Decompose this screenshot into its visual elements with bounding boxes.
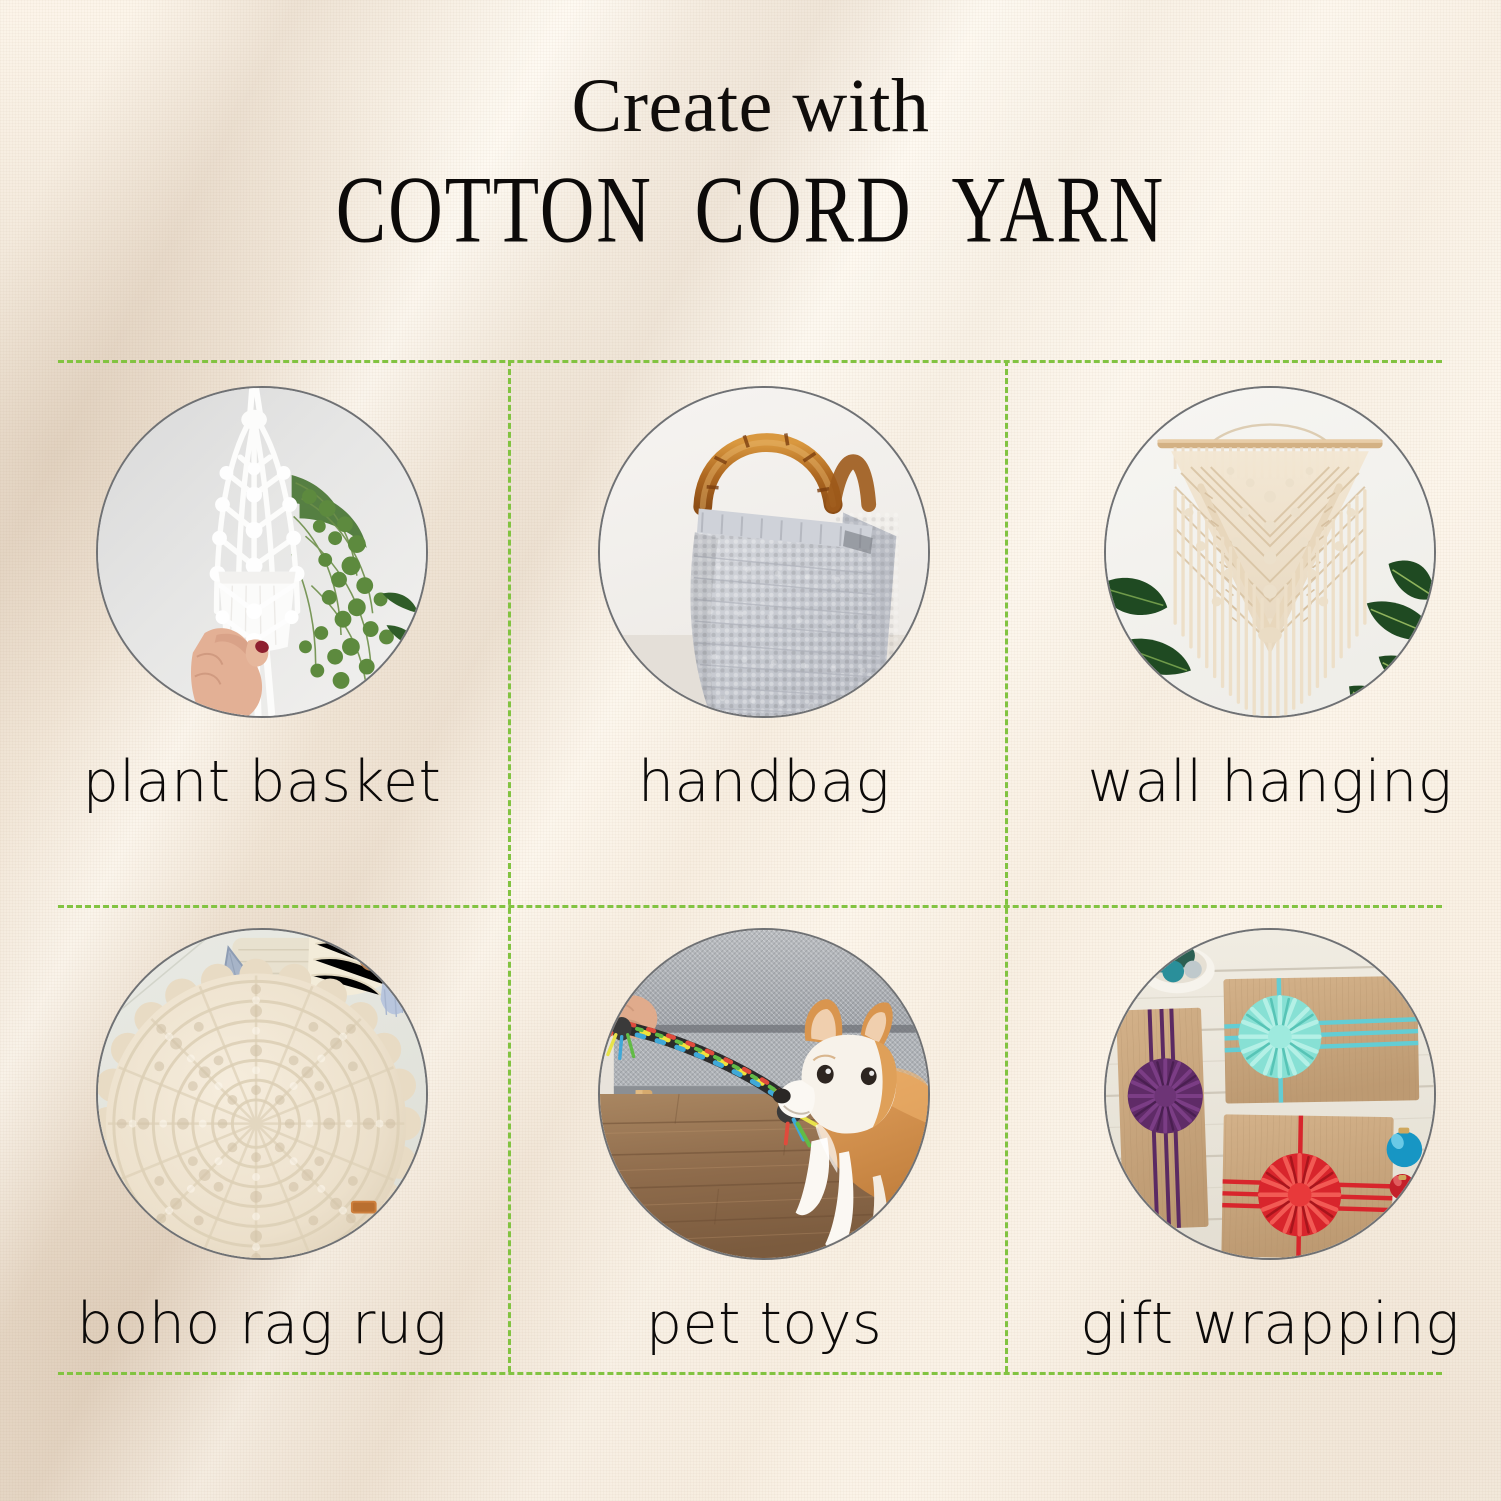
- cell-label-wall-hanging: wall hanging: [1088, 754, 1453, 811]
- crochet-handbag-photo: [598, 386, 930, 718]
- grid-cell-gift-wrapping[interactable]: gift wrapping: [1100, 928, 1440, 1353]
- dog-rope-toy-photo: [598, 928, 930, 1260]
- grid-divider-middle: [58, 905, 1442, 908]
- gift-wrapping-photo: [1104, 928, 1436, 1260]
- grid-divider-bottom: [58, 1372, 1442, 1375]
- macrame-wall-hanging-photo: [1104, 386, 1436, 718]
- grid-cell-wall-hanging[interactable]: wall hanging: [1100, 386, 1440, 811]
- page-title-line-1: Create with: [0, 68, 1501, 144]
- grid-cell-plant-basket[interactable]: plant basket: [92, 386, 432, 811]
- macrame-plant-hanger-photo: [96, 386, 428, 718]
- cell-label-gift-wrapping: gift wrapping: [1080, 1296, 1460, 1353]
- cell-label-boho-rag-rug: boho rag rug: [77, 1296, 448, 1353]
- grid-divider-top: [58, 360, 1442, 363]
- grid-divider-right: [1005, 360, 1008, 1372]
- page-title-line-2: COTTON CORD YARN: [23, 162, 1479, 257]
- header: Create with COTTON CORD YARN: [0, 68, 1501, 240]
- cell-label-plant-basket: plant basket: [83, 754, 442, 811]
- grid-cell-handbag[interactable]: handbag: [594, 386, 934, 811]
- grid-divider-left: [508, 360, 511, 1372]
- crochet-round-rug-photo: [96, 928, 428, 1260]
- cell-label-pet-toys: pet toys: [646, 1296, 882, 1353]
- grid-cell-pet-toys[interactable]: pet toys: [594, 928, 934, 1353]
- cell-label-handbag: handbag: [638, 754, 890, 811]
- grid-cell-boho-rag-rug[interactable]: boho rag rug: [92, 928, 432, 1353]
